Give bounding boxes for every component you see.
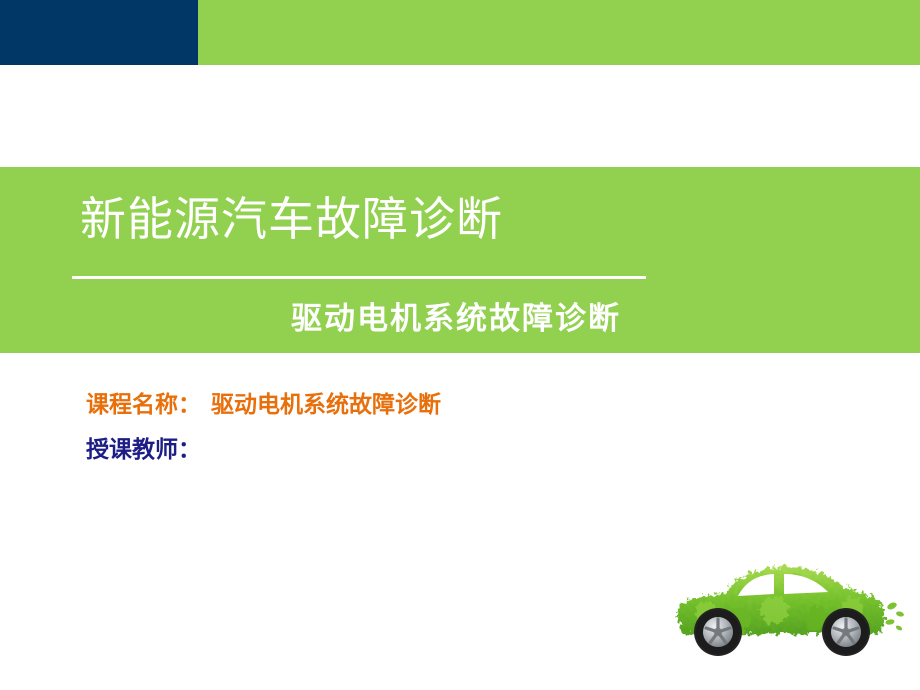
eco-car-icon [666,550,906,662]
presentation-slide: 新能源汽车故障诊断 驱动电机系统故障诊断 课程名称：驱动电机系统故障诊断 授课教… [0,0,920,690]
header-navy-block [0,0,198,65]
leaf-flecks [885,601,904,631]
course-name-line: 课程名称：驱动电机系统故障诊断 [86,389,441,419]
eco-leaf-car-graphic [666,550,906,662]
car-wheel-rear [822,608,870,656]
slide-header [0,0,920,65]
teacher-name-label: 授课教师： [86,434,201,464]
course-name-label: 课程名称： [86,391,201,417]
title-divider-rule [72,276,646,279]
slide-sub-title: 驱动电机系统故障诊断 [291,300,621,338]
slide-main-title: 新能源汽车故障诊断 [80,192,503,248]
car-wheel-front [694,608,742,656]
course-name-value: 驱动电机系统故障诊断 [211,391,441,417]
